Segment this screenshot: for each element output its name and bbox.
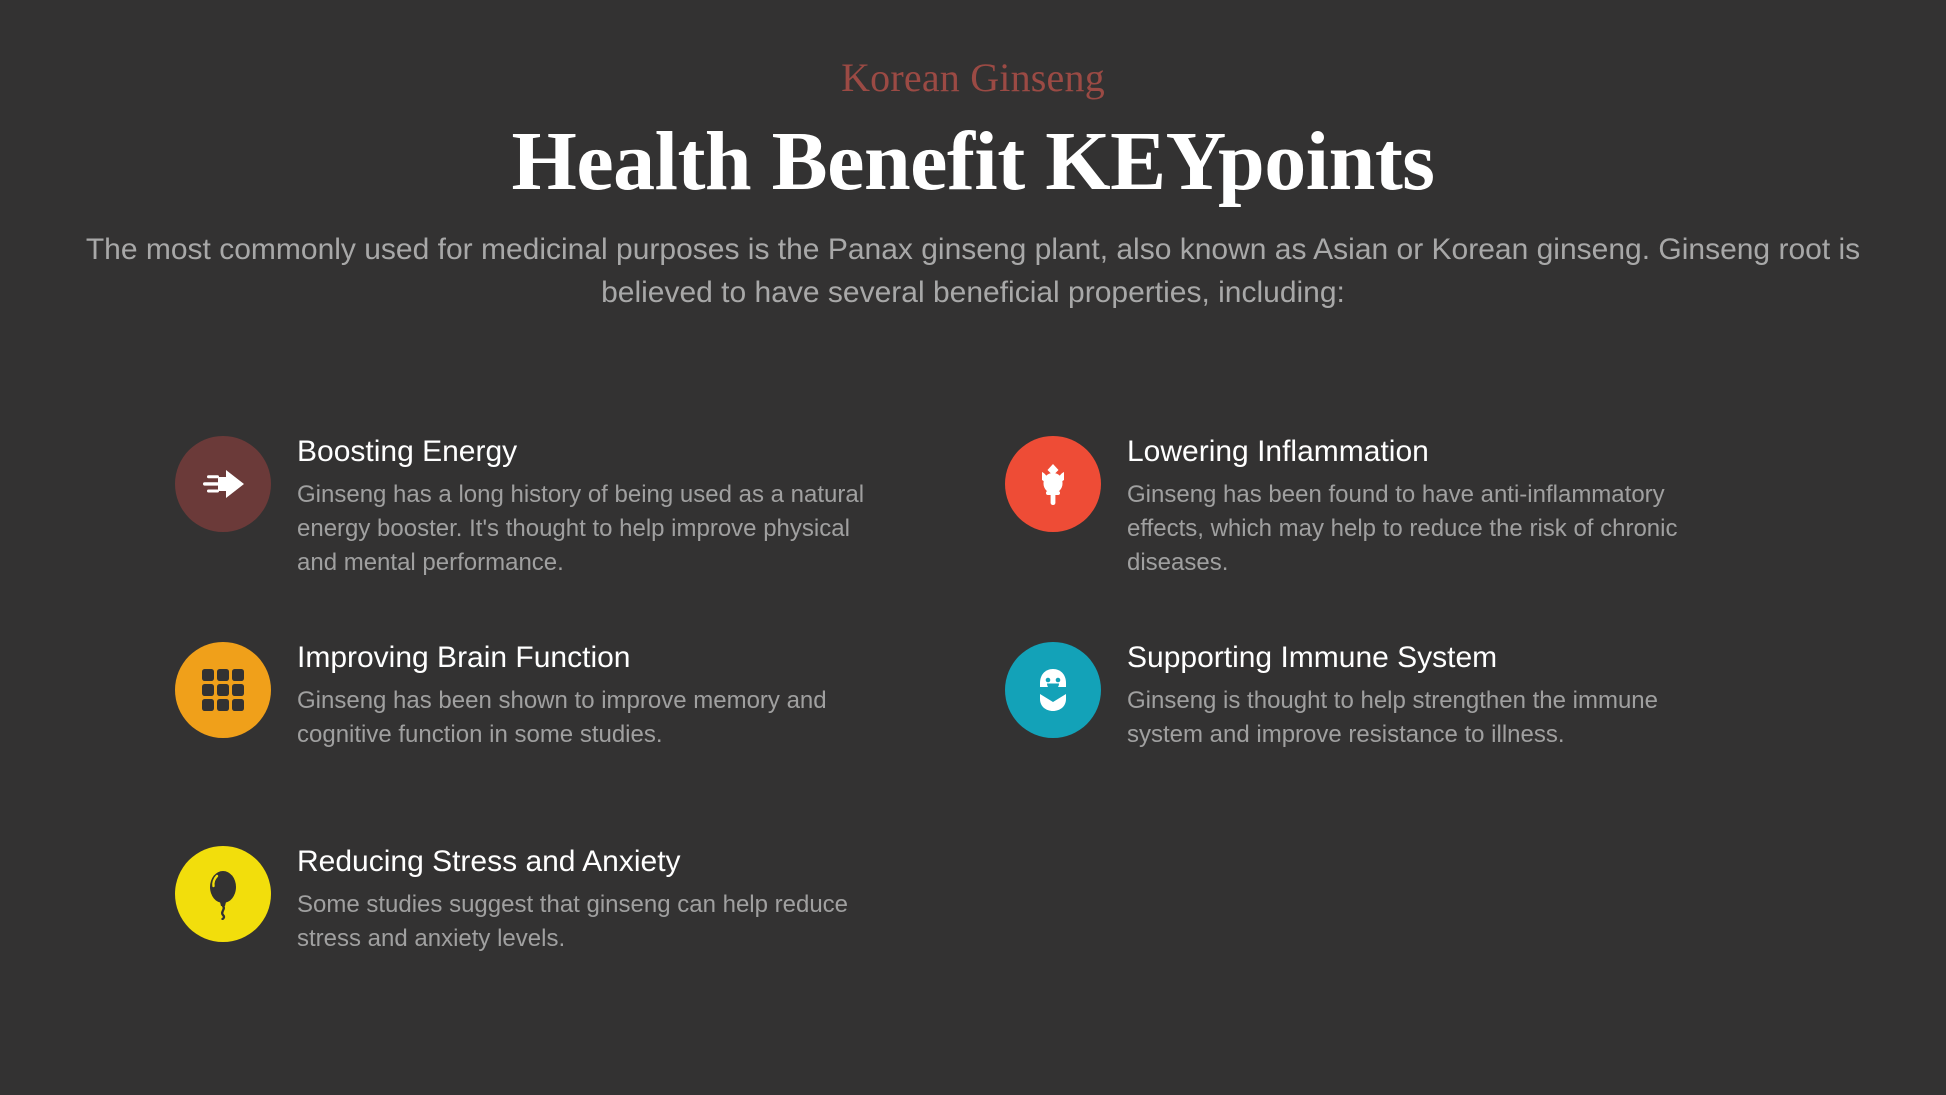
benefits-grid: Boosting Energy Ginseng has a long histo… xyxy=(175,432,1795,1015)
benefit-copy: Lowering Inflammation Ginseng has been f… xyxy=(1127,432,1705,580)
benefit-description: Ginseng has been shown to improve memory… xyxy=(297,684,875,752)
fast-arrow-icon xyxy=(196,457,250,511)
benefit-copy: Supporting Immune System Ginseng is thou… xyxy=(1127,638,1705,752)
eyebrow-label: Korean Ginseng xyxy=(0,56,1946,100)
benefit-copy: Boosting Energy Ginseng has a long histo… xyxy=(297,432,875,580)
benefit-title: Improving Brain Function xyxy=(297,640,875,676)
swaddled-baby-icon xyxy=(1028,665,1078,715)
benefit-badge-supporting-immune-system xyxy=(1005,642,1101,738)
benefit-description: Ginseng has a long history of being used… xyxy=(297,478,875,580)
benefit-badge-reducing-stress-and-anxiety xyxy=(175,846,271,942)
benefit-description: Ginseng is thought to help strengthen th… xyxy=(1127,684,1705,752)
benefit-title: Boosting Energy xyxy=(297,434,875,470)
grid-squares-icon xyxy=(200,667,246,713)
benefit-title: Supporting Immune System xyxy=(1127,640,1705,676)
benefit-item-supporting-immune-system[interactable]: Supporting Immune System Ginseng is thou… xyxy=(1005,638,1705,842)
benefit-badge-improving-brain-function xyxy=(175,642,271,738)
benefit-title: Lowering Inflammation xyxy=(1127,434,1705,470)
benefit-copy: Improving Brain Function Ginseng has bee… xyxy=(297,638,875,752)
subtitle-text: The most commonly used for medicinal pur… xyxy=(63,229,1883,314)
benefit-badge-boosting-energy xyxy=(175,436,271,532)
benefit-title: Reducing Stress and Anxiety xyxy=(297,844,875,880)
benefit-copy: Reducing Stress and Anxiety Some studies… xyxy=(297,842,875,956)
page-title: Health Benefit KEYpoints xyxy=(0,112,1946,211)
benefit-badge-lowering-inflammation xyxy=(1005,436,1101,532)
benefit-description: Some studies suggest that ginseng can he… xyxy=(297,888,875,956)
slide-header: Korean Ginseng Health Benefit KEYpoints … xyxy=(0,0,1946,314)
rose-flower-icon xyxy=(1028,459,1078,509)
slide-root: Korean Ginseng Health Benefit KEYpoints … xyxy=(0,0,1946,1095)
benefit-item-improving-brain-function[interactable]: Improving Brain Function Ginseng has bee… xyxy=(175,638,875,842)
balloon-icon xyxy=(200,868,246,920)
benefit-description: Ginseng has been found to have anti-infl… xyxy=(1127,478,1705,580)
benefit-item-boosting-energy[interactable]: Boosting Energy Ginseng has a long histo… xyxy=(175,432,875,638)
benefit-item-reducing-stress-and-anxiety[interactable]: Reducing Stress and Anxiety Some studies… xyxy=(175,842,875,1014)
benefit-item-lowering-inflammation[interactable]: Lowering Inflammation Ginseng has been f… xyxy=(1005,432,1705,638)
